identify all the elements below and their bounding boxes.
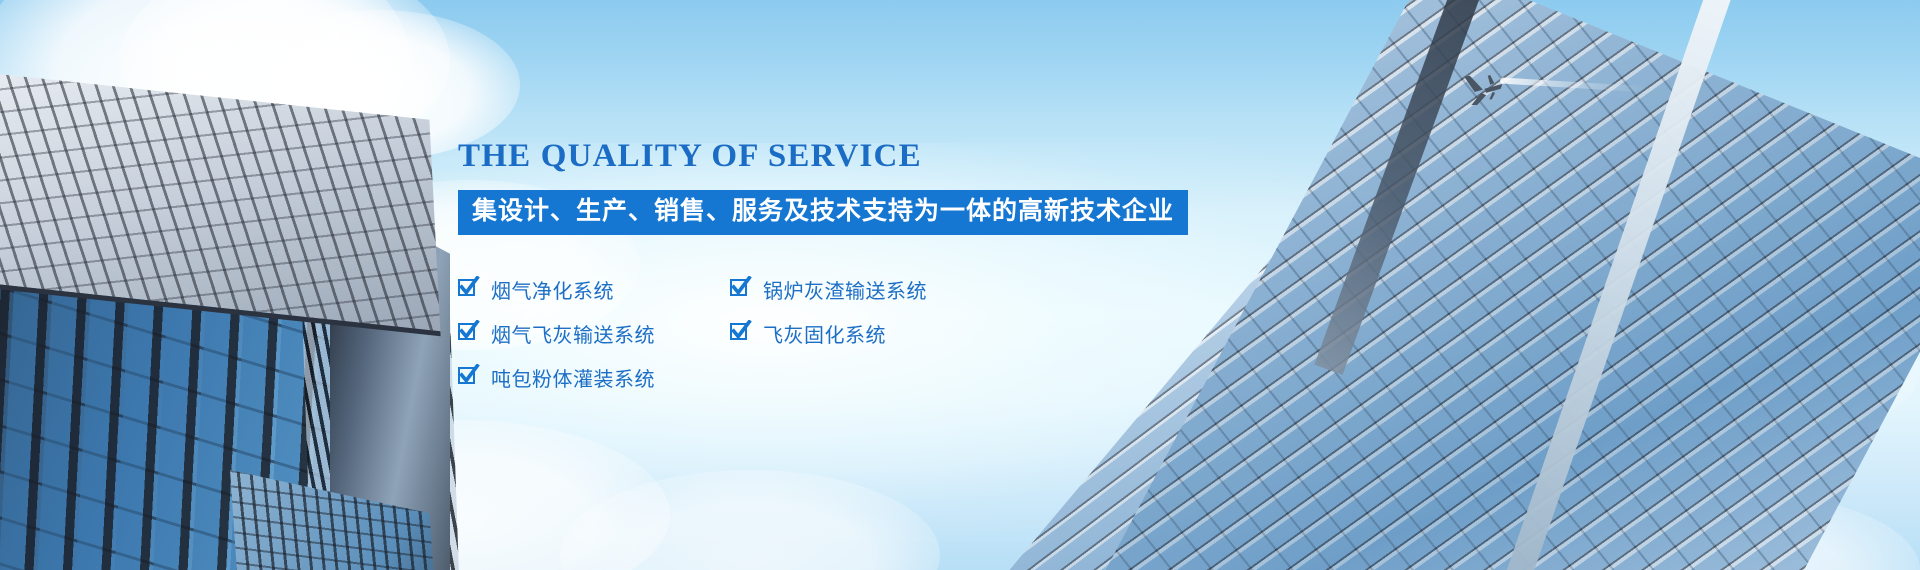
cloud-decoration <box>120 0 450 160</box>
checkbox-checked-icon <box>458 367 478 387</box>
banner-content: THE QUALITY OF SERVICE 集设计、生产、销售、服务及技术支持… <box>458 138 1458 399</box>
left-building-secondary <box>230 470 442 570</box>
checkbox-checked-icon <box>458 323 478 343</box>
list-item[interactable]: 烟气净化系统 <box>458 275 730 304</box>
feature-list: 烟气净化系统 锅炉灰渣输送系统 烟气飞灰输送系统 <box>458 267 1458 399</box>
airplane-icon <box>1452 72 1504 112</box>
list-item-label: 烟气飞灰输送系统 <box>491 319 655 348</box>
list-item[interactable]: 吨包粉体灌装系统 <box>458 363 730 392</box>
list-item[interactable]: 锅炉灰渣输送系统 <box>730 275 1458 304</box>
left-building-roof <box>0 70 441 336</box>
left-building-fins <box>300 250 464 570</box>
checkbox-checked-icon <box>730 323 750 343</box>
checkbox-checked-icon <box>730 279 750 299</box>
list-item-label: 吨包粉体灌装系统 <box>491 363 655 392</box>
hero-banner: THE QUALITY OF SERVICE 集设计、生产、销售、服务及技术支持… <box>0 0 1920 570</box>
cloud-decoration <box>1180 470 1600 570</box>
cloud-decoration <box>250 420 670 570</box>
subtitle-bar: 集设计、生产、销售、服务及技术支持为一体的高新技术企业 <box>458 190 1188 235</box>
page-title: THE QUALITY OF SERVICE <box>458 138 1458 174</box>
right-building-lower <box>1321 470 1634 570</box>
right-building-ridge <box>1502 0 1735 570</box>
cloud-decoration <box>150 250 450 400</box>
cloud-decoration <box>0 380 240 570</box>
left-building-edge <box>330 190 450 570</box>
contrail <box>1500 77 1650 92</box>
checkbox-checked-icon <box>458 279 478 299</box>
left-building-image <box>0 70 420 570</box>
list-item[interactable]: 烟气飞灰输送系统 <box>458 319 730 348</box>
cloud-decoration <box>1620 300 1920 440</box>
cloud-decoration <box>1520 490 1920 570</box>
cloud-decoration <box>560 470 940 570</box>
left-building-facade <box>0 220 415 570</box>
list-item-label: 锅炉灰渣输送系统 <box>763 275 927 304</box>
list-item[interactable]: 飞灰固化系统 <box>730 319 1458 348</box>
list-item-label: 飞灰固化系统 <box>763 319 886 348</box>
list-item-label: 烟气净化系统 <box>491 275 614 304</box>
cloud-decoration <box>0 0 410 190</box>
